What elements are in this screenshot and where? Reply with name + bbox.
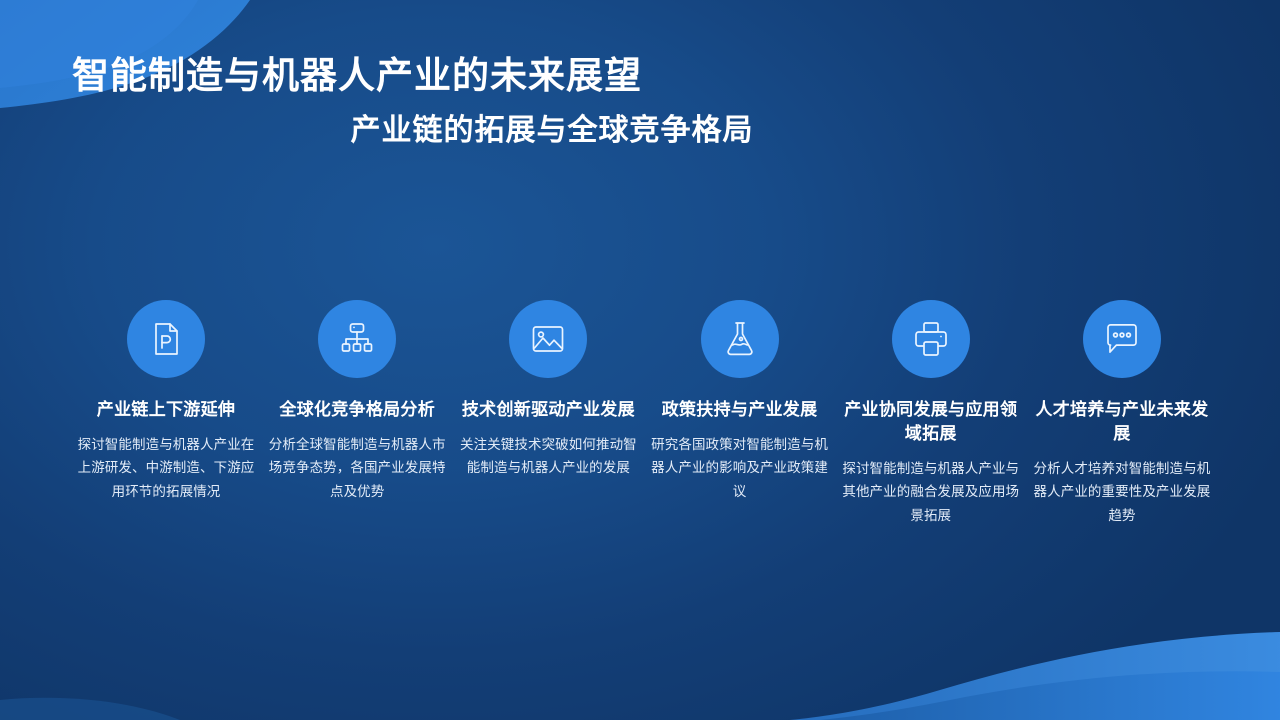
icon-badge[interactable]: [1083, 300, 1161, 378]
feature-columns: 产业链上下游延伸 探讨智能制造与机器人产业在上游研发、中游制造、下游应用环节的拓…: [76, 300, 1212, 527]
feature-description: 探讨智能制造与机器人产业在上游研发、中游制造、下游应用环节的拓展情况: [77, 433, 255, 503]
feature-column-1[interactable]: 产业链上下游延伸 探讨智能制造与机器人产业在上游研发、中游制造、下游应用环节的拓…: [76, 300, 256, 503]
printer-icon: [911, 319, 951, 359]
image-picture-icon: [528, 319, 568, 359]
feature-column-3[interactable]: 技术创新驱动产业发展 关注关键技术突破如何推动智能制造与机器人产业的发展: [458, 300, 638, 480]
feature-title: 人才培养与产业未来发展: [1033, 398, 1211, 446]
icon-badge[interactable]: [892, 300, 970, 378]
feature-description: 研究各国政策对智能制造与机器人产业的影响及产业政策建议: [651, 433, 829, 503]
bottom-right-wave-shape-2: [820, 671, 1280, 720]
feature-title: 政策扶持与产业发展: [651, 398, 829, 422]
feature-title: 全球化竞争格局分析: [268, 398, 446, 422]
title-block: 智能制造与机器人产业的未来展望 产业链的拓展与全球竞争格局: [72, 52, 1212, 150]
page-title: 智能制造与机器人产业的未来展望: [72, 52, 1212, 99]
feature-title: 技术创新驱动产业发展: [459, 398, 637, 422]
feature-title: 产业协同发展与应用领域拓展: [842, 398, 1020, 446]
sitemap-hierarchy-icon: [337, 319, 377, 359]
flask-beaker-icon: [720, 319, 760, 359]
feature-description: 分析人才培养对智能制造与机器人产业的重要性及产业发展趋势: [1033, 457, 1211, 527]
bottom-right-wave-shape-1: [790, 632, 1280, 720]
feature-description: 分析全球智能制造与机器人市场竞争态势，各国产业发展特点及优势: [268, 433, 446, 503]
icon-badge[interactable]: [701, 300, 779, 378]
icon-badge[interactable]: [127, 300, 205, 378]
feature-title: 产业链上下游延伸: [77, 398, 255, 422]
feature-column-5[interactable]: 产业协同发展与应用领域拓展 探讨智能制造与机器人产业与其他产业的融合发展及应用场…: [841, 300, 1021, 527]
feature-column-2[interactable]: 全球化竞争格局分析 分析全球智能制造与机器人市场竞争态势，各国产业发展特点及优势: [267, 300, 447, 503]
feature-description: 探讨智能制造与机器人产业与其他产业的融合发展及应用场景拓展: [842, 457, 1020, 527]
presentation-slide: 智能制造与机器人产业的未来展望 产业链的拓展与全球竞争格局 产业链上下游延伸 探…: [0, 0, 1280, 720]
icon-badge[interactable]: [509, 300, 587, 378]
chat-bubble-dots-icon: [1102, 319, 1142, 359]
icon-badge[interactable]: [318, 300, 396, 378]
feature-column-4[interactable]: 政策扶持与产业发展 研究各国政策对智能制造与机器人产业的影响及产业政策建议: [650, 300, 830, 503]
feature-description: 关注关键技术突破如何推动智能制造与机器人产业的发展: [459, 433, 637, 479]
document-p-icon: [146, 319, 186, 359]
feature-column-6[interactable]: 人才培养与产业未来发展 分析人才培养对智能制造与机器人产业的重要性及产业发展趋势: [1032, 300, 1212, 527]
bottom-left-wave-shape: [0, 698, 180, 720]
page-subtitle: 产业链的拓展与全球竞争格局: [72, 111, 1212, 150]
